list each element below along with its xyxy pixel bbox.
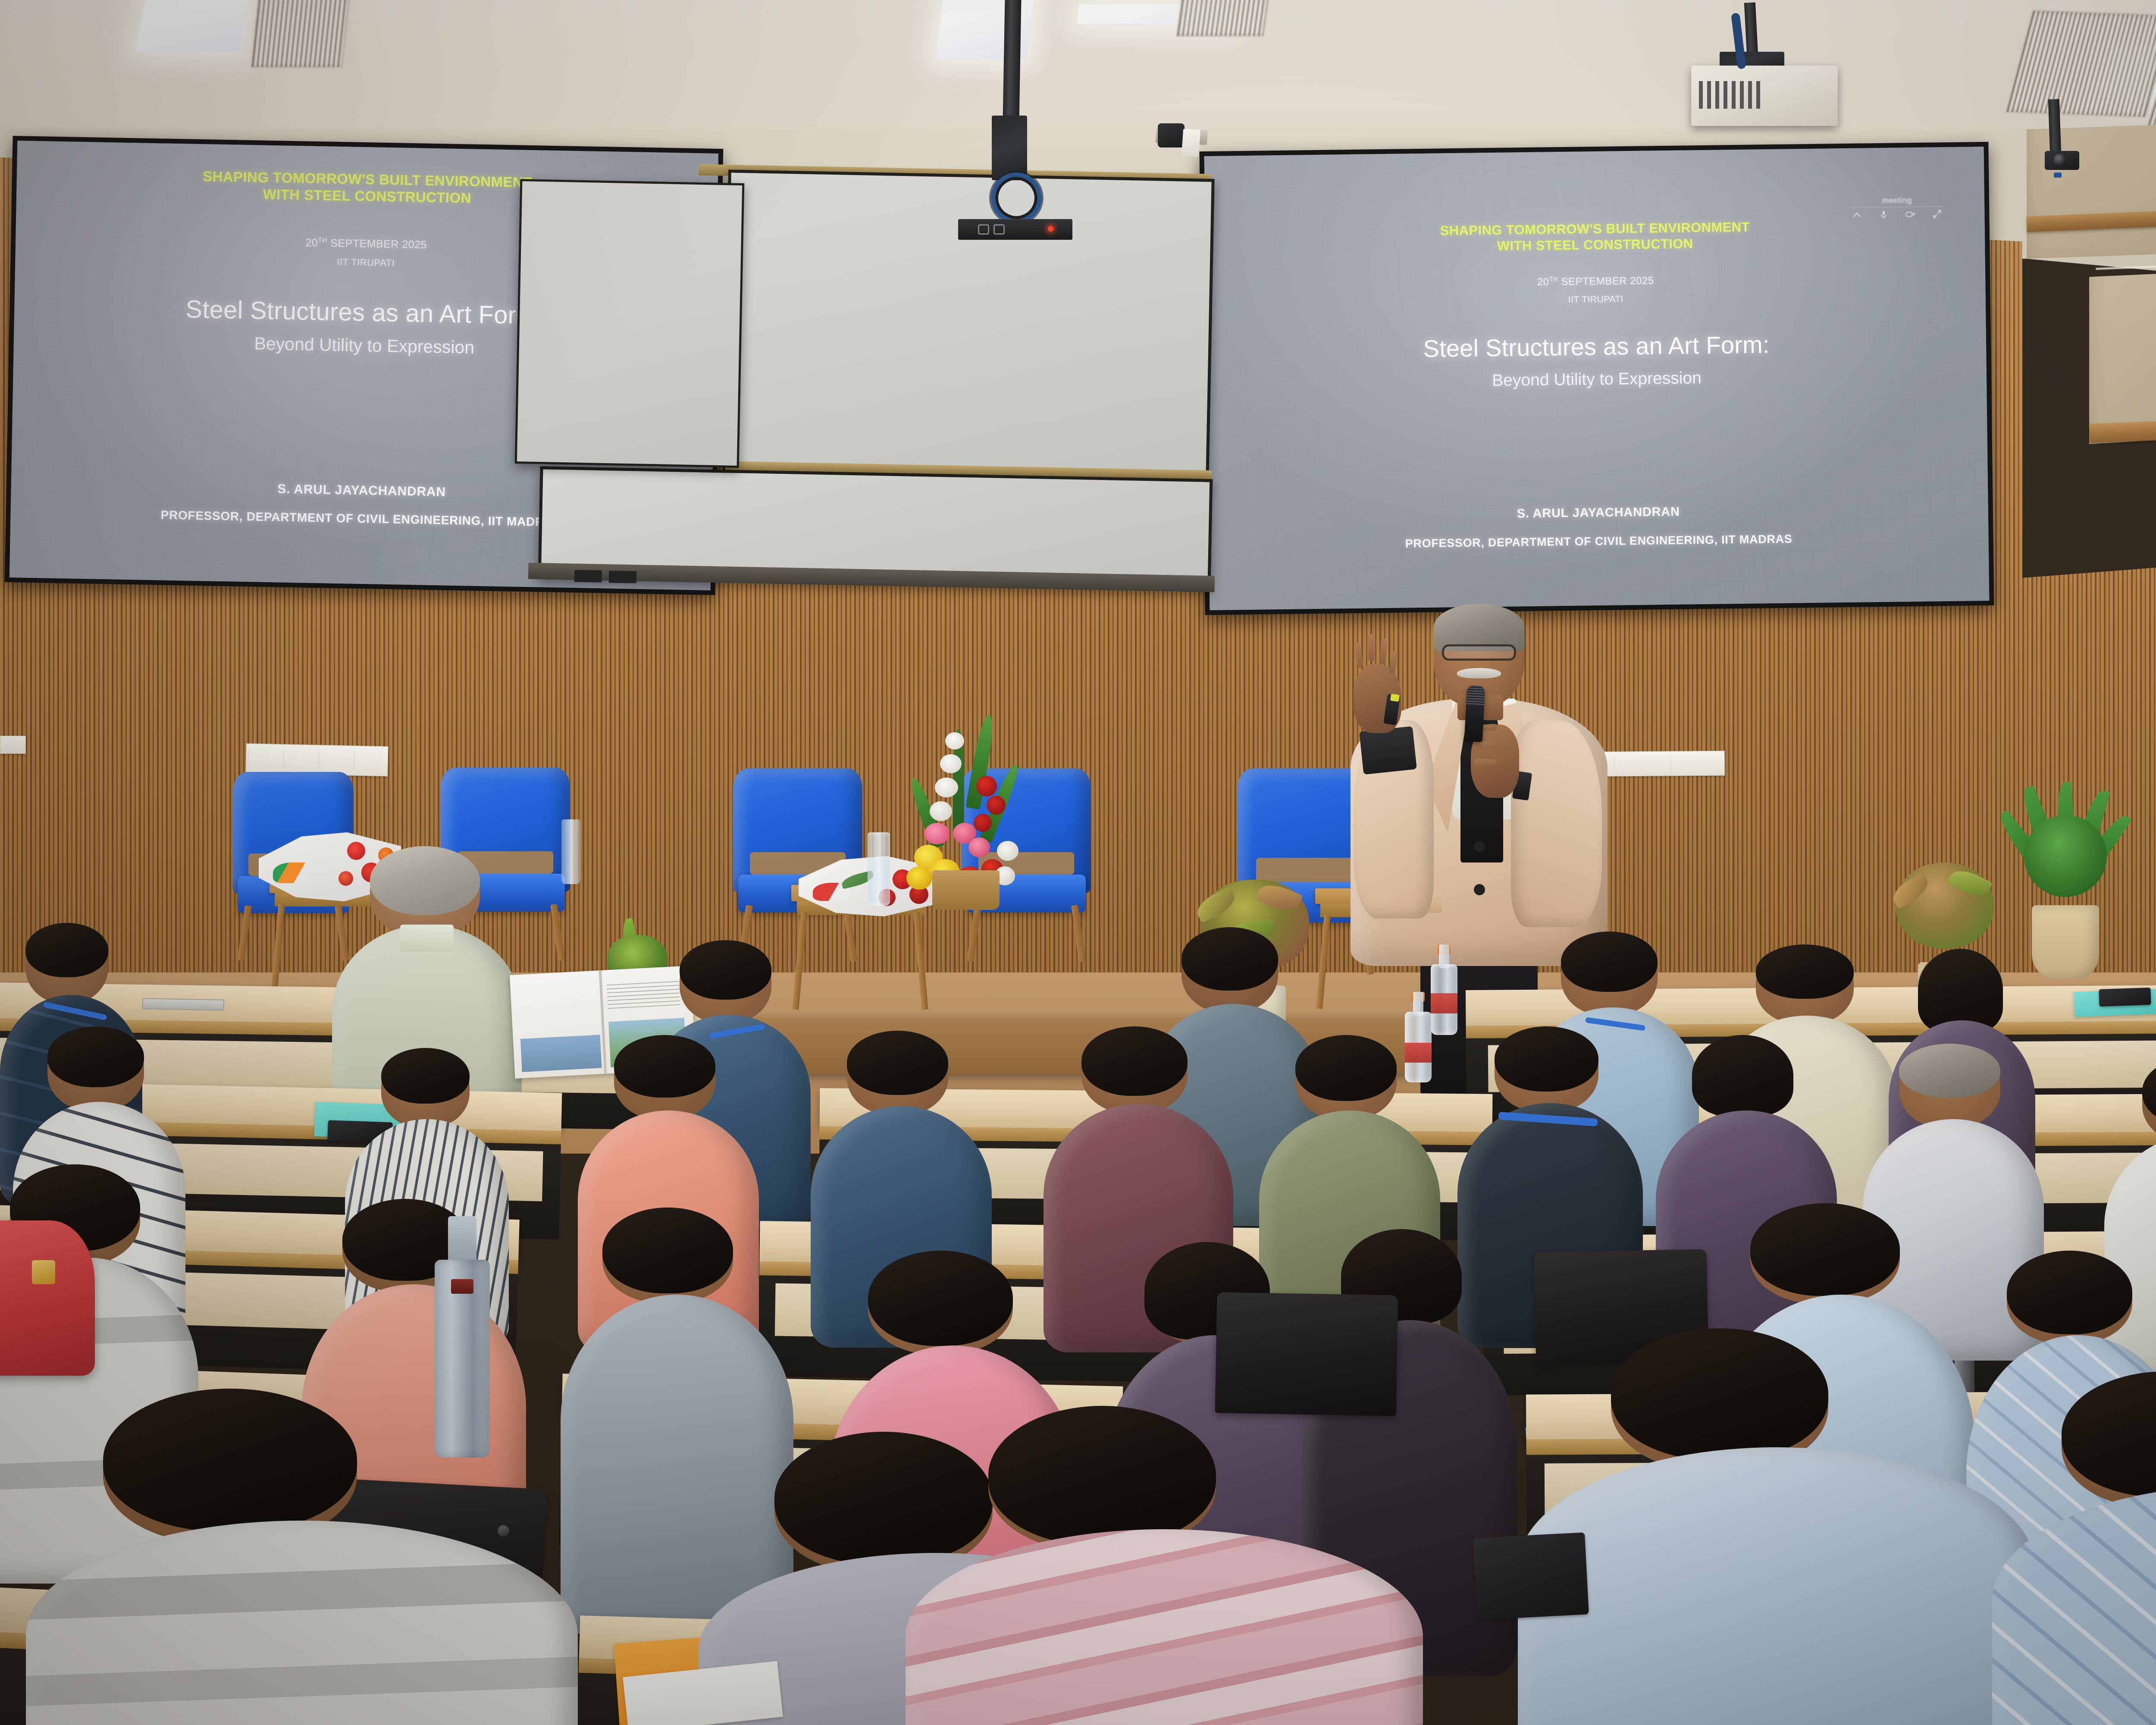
hair xyxy=(1561,931,1658,992)
hair xyxy=(370,846,480,915)
flower-basket xyxy=(932,870,1000,910)
screen-surface: SHAPING TOMORROW'S BUILT ENVIRONMENT WIT… xyxy=(1204,147,1990,610)
whiteboard-marker[interactable] xyxy=(609,571,636,583)
slide-speaker-affiliation: PROFESSOR, DEPARTMENT OF CIVIL ENGINEERI… xyxy=(1209,530,1988,553)
chair-leg xyxy=(550,904,565,961)
audience-member xyxy=(906,1406,1423,1725)
plant-pot xyxy=(2032,905,2099,979)
chair-leg xyxy=(967,905,981,962)
camera-led xyxy=(2054,172,2062,178)
chair-leg xyxy=(237,905,252,961)
water-bottle xyxy=(1431,944,1457,1035)
acoustic-panel xyxy=(2027,110,2156,265)
hair xyxy=(47,1026,144,1087)
status-led xyxy=(1048,226,1053,232)
hair xyxy=(1692,1035,1793,1116)
moustache xyxy=(1457,668,1501,678)
slide-date: 20TH SEPTEMBER 2025 xyxy=(1206,271,1985,292)
hair xyxy=(2007,1251,2132,1334)
projector-mount-bracket xyxy=(992,116,1027,180)
chair-leg xyxy=(1071,905,1086,962)
tablet[interactable] xyxy=(1473,1532,1589,1620)
power-socket-strip[interactable] xyxy=(0,736,26,754)
hair xyxy=(381,1048,470,1104)
finger xyxy=(1473,742,1498,749)
camera-lens-icon xyxy=(993,224,1005,235)
microphone-icon[interactable] xyxy=(1878,210,1889,220)
lecture-chair-back xyxy=(1215,1292,1398,1416)
finger xyxy=(1355,642,1363,668)
smartphone[interactable] xyxy=(2099,988,2151,1007)
white-flower xyxy=(997,841,1018,861)
projector-mount-pole xyxy=(1003,0,1021,125)
white-flower xyxy=(930,801,952,821)
air-vent xyxy=(1176,0,1272,37)
microphone[interactable] xyxy=(1464,685,1485,742)
water-glass xyxy=(561,819,580,884)
hair xyxy=(614,1035,715,1098)
audience-member xyxy=(26,1389,578,1725)
overlay-label: meeting xyxy=(1852,195,1942,206)
date-number: 20 xyxy=(1537,276,1549,288)
date-ordinal: TH xyxy=(1549,276,1558,283)
backpack-logo xyxy=(32,1260,55,1284)
whiteboard-left-panel[interactable] xyxy=(515,179,745,468)
hair xyxy=(1918,949,2003,1032)
slide-subtitle: Beyond Utility to Expression xyxy=(1207,365,1987,394)
speaker-arm xyxy=(1511,720,1602,927)
overlay-toolbar[interactable] xyxy=(1852,206,1942,220)
finger xyxy=(1368,634,1374,662)
blazer-button xyxy=(1474,884,1485,895)
power-socket-strip[interactable] xyxy=(245,743,388,777)
chevron-up-icon[interactable] xyxy=(1852,210,1862,220)
audience-member xyxy=(1518,1328,2035,1725)
camera-mount-pole xyxy=(2048,99,2061,155)
camera-lens-icon xyxy=(978,224,989,235)
ceiling-camera xyxy=(1158,123,1185,147)
date-number: 20 xyxy=(305,237,318,249)
flower-arrangement xyxy=(901,729,1031,910)
table-leg xyxy=(913,912,928,1010)
hair xyxy=(680,940,771,1000)
hair xyxy=(1081,1026,1188,1096)
equipment-tag xyxy=(1181,129,1200,157)
hair xyxy=(602,1207,733,1293)
flask-label xyxy=(451,1279,473,1294)
date-ordinal: TH xyxy=(318,237,327,244)
yellow-chrysanthemum xyxy=(906,866,932,890)
whiteboard-marker[interactable] xyxy=(574,570,602,582)
right-projection-screen: SHAPING TOMORROW'S BUILT ENVIRONMENT WIT… xyxy=(1200,142,1994,615)
water-glass xyxy=(868,832,890,906)
projector-ports xyxy=(1699,81,1764,109)
white-flower xyxy=(940,754,962,773)
hair xyxy=(1899,1044,2000,1098)
finger xyxy=(1379,638,1387,665)
cable-coil xyxy=(991,172,1042,223)
plant-foliage xyxy=(1896,862,1994,949)
backpack xyxy=(0,1220,95,1376)
camera-lens-icon xyxy=(2053,154,2066,166)
slide-title: Steel Structures as an Art Form: xyxy=(1206,328,1987,365)
hair xyxy=(1495,1026,1598,1091)
expand-icon[interactable] xyxy=(1932,209,1942,219)
slide-content: SHAPING TOMORROW'S BUILT ENVIRONMENT WIT… xyxy=(1204,147,1990,610)
hair xyxy=(1611,1328,1828,1460)
microphone-mesh xyxy=(1466,685,1485,705)
shirt-collar xyxy=(400,925,453,952)
pink-carnation xyxy=(968,837,990,857)
shirt-cuff xyxy=(1359,726,1417,775)
torso xyxy=(1992,1485,2156,1725)
bouquet-ribbon xyxy=(273,862,310,883)
table-leg xyxy=(270,904,285,998)
date-rest: SEPTEMBER 2025 xyxy=(1558,275,1654,288)
hair xyxy=(103,1389,357,1531)
clicker-button[interactable] xyxy=(1390,694,1400,702)
hair xyxy=(868,1251,1013,1346)
air-vent xyxy=(251,0,351,68)
torso xyxy=(26,1521,578,1725)
hair xyxy=(1295,1035,1397,1101)
whiteboard[interactable] xyxy=(722,169,1215,487)
flask-cap xyxy=(448,1216,477,1264)
eyeglasses xyxy=(1442,644,1517,661)
hair xyxy=(1750,1203,1900,1296)
plant-foliage xyxy=(2024,815,2107,897)
acoustic-panel xyxy=(2089,254,2156,444)
slide-speaker-name: S. ARUL JAYACHANDRAN xyxy=(1209,501,1988,525)
camera-bar xyxy=(958,219,1072,240)
bottle-label xyxy=(1431,993,1457,1013)
finger xyxy=(1473,759,1497,766)
torso xyxy=(906,1529,1423,1725)
date-rest: SEPTEMBER 2025 xyxy=(327,237,427,251)
red-rose xyxy=(976,776,997,797)
lecture-hall-photo: SHAPING TOMORROW'S BUILT ENVIRONMENT WIT… xyxy=(0,0,2156,1725)
slide-location: IIT TIRUPATI xyxy=(1206,290,1986,310)
finger xyxy=(1389,651,1398,674)
video-conference-overlay[interactable]: meeting xyxy=(1852,195,1943,220)
pink-carnation xyxy=(924,823,950,844)
hair xyxy=(988,1406,1216,1545)
hair xyxy=(25,923,108,977)
blazer-button xyxy=(1474,841,1485,852)
camera-icon[interactable] xyxy=(1905,209,1915,220)
ceiling-light xyxy=(135,0,251,52)
hair xyxy=(847,1031,948,1095)
desk-cable-plate xyxy=(142,998,224,1010)
audience-member xyxy=(1992,1371,2156,1725)
hair xyxy=(1756,944,1854,999)
hair xyxy=(1181,927,1278,991)
air-vent xyxy=(2005,9,2156,118)
torso xyxy=(1518,1447,2035,1725)
